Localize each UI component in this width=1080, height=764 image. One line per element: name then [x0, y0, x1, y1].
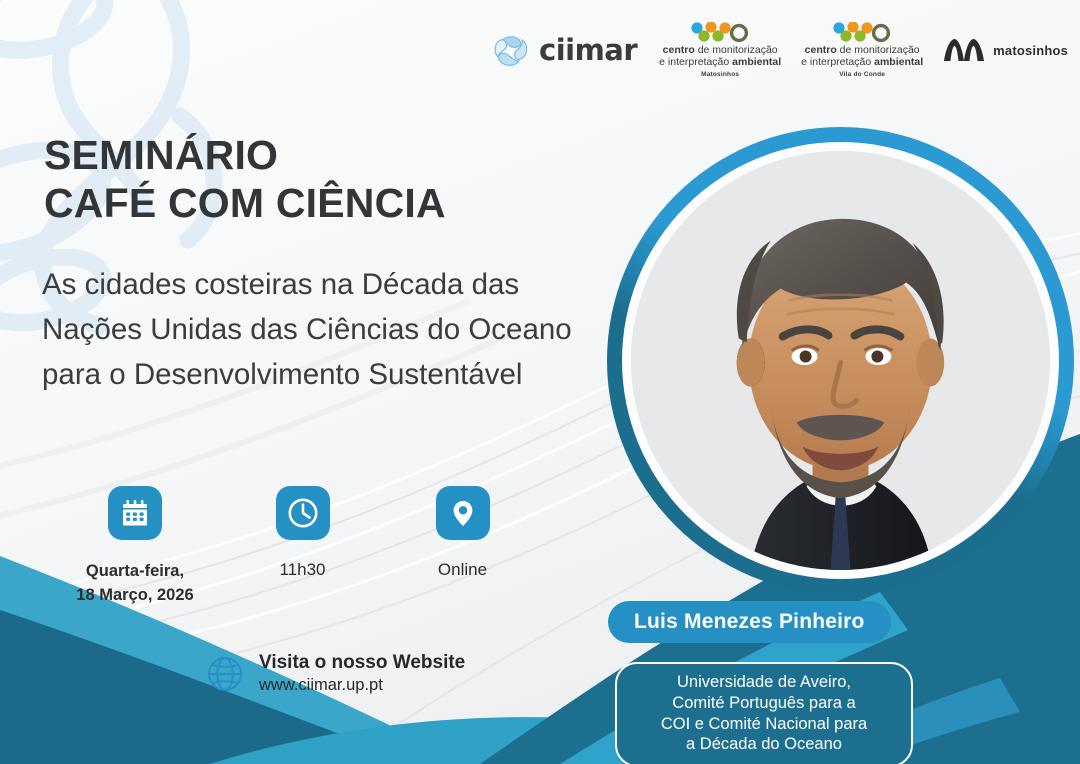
- cmia-line2: e interpretação ambiental: [801, 57, 923, 69]
- cmia-city: Vila do Conde: [839, 71, 885, 78]
- seminar-subtitle: As cidades costeiras na Década das Naçõe…: [42, 262, 587, 397]
- avatar: [631, 151, 1050, 570]
- title-line-2: CAFÉ COM CIÊNCIA: [44, 180, 446, 228]
- website-label: Visita o nosso Website: [259, 651, 465, 675]
- logo-cmia-matosinhos: centro de monitorização e interpretação …: [659, 14, 781, 86]
- speaker-affiliation-badge: Universidade de Aveiro, Comité Português…: [615, 662, 913, 764]
- cmia-city: Matosinhos: [701, 71, 739, 78]
- event-time-block: 11h30: [210, 486, 395, 608]
- logo-ciimar: ciimar: [492, 14, 637, 86]
- website-text: Visita o nosso Website www.ciimar.up.pt: [259, 651, 465, 696]
- ciimar-knot-icon: [492, 31, 532, 69]
- cmia-dots-icon: [829, 22, 895, 42]
- event-date-line1: Quarta-feira,: [76, 560, 193, 584]
- globe-icon: [205, 654, 245, 694]
- event-info-row: Quarta-feira, 18 Março, 2026 11h30 Onlin…: [60, 486, 580, 608]
- partner-logo-bar: ciimar centro de monitorização e interpr…: [492, 14, 1080, 86]
- title-line-1: SEMINÁRIO: [44, 132, 446, 180]
- calendar-icon: [108, 486, 162, 540]
- affiliation-line-1: Universidade de Aveiro,: [633, 672, 895, 693]
- cmia-dots-icon: [687, 22, 753, 42]
- ciimar-wordmark: ciimar: [539, 33, 637, 67]
- affiliation-line-3: COI e Comité Nacional para: [633, 714, 895, 735]
- speaker-portrait-frame: [607, 127, 1074, 594]
- cmia-line2: e interpretação ambiental: [659, 57, 781, 69]
- logo-matosinhos: matosinhos: [943, 14, 1068, 86]
- event-location-block: Online: [395, 486, 530, 608]
- event-date-block: Quarta-feira, 18 Março, 2026: [60, 486, 210, 608]
- seminar-poster: ciimar centro de monitorização e interpr…: [0, 0, 1080, 764]
- map-pin-icon: [436, 486, 490, 540]
- event-date-line2: 18 Março, 2026: [76, 584, 193, 608]
- page-title: SEMINÁRIO CAFÉ COM CIÊNCIA: [44, 132, 446, 228]
- event-location-text: Online: [438, 560, 487, 580]
- matosinhos-m-icon: [943, 38, 985, 62]
- matosinhos-wordmark: matosinhos: [993, 43, 1068, 58]
- website-url[interactable]: www.ciimar.up.pt: [259, 675, 465, 696]
- event-time-text: 11h30: [279, 560, 325, 580]
- affiliation-line-4: a Década do Oceano: [633, 734, 895, 755]
- logo-cmia-vila-do-conde: centro de monitorização e interpretação …: [801, 14, 923, 86]
- speaker-name-badge: Luis Menezes Pinheiro: [608, 601, 891, 643]
- website-block[interactable]: Visita o nosso Website www.ciimar.up.pt: [205, 651, 465, 696]
- event-date-text: Quarta-feira, 18 Março, 2026: [76, 560, 193, 608]
- clock-icon: [276, 486, 330, 540]
- affiliation-line-2: Comité Português para a: [633, 693, 895, 714]
